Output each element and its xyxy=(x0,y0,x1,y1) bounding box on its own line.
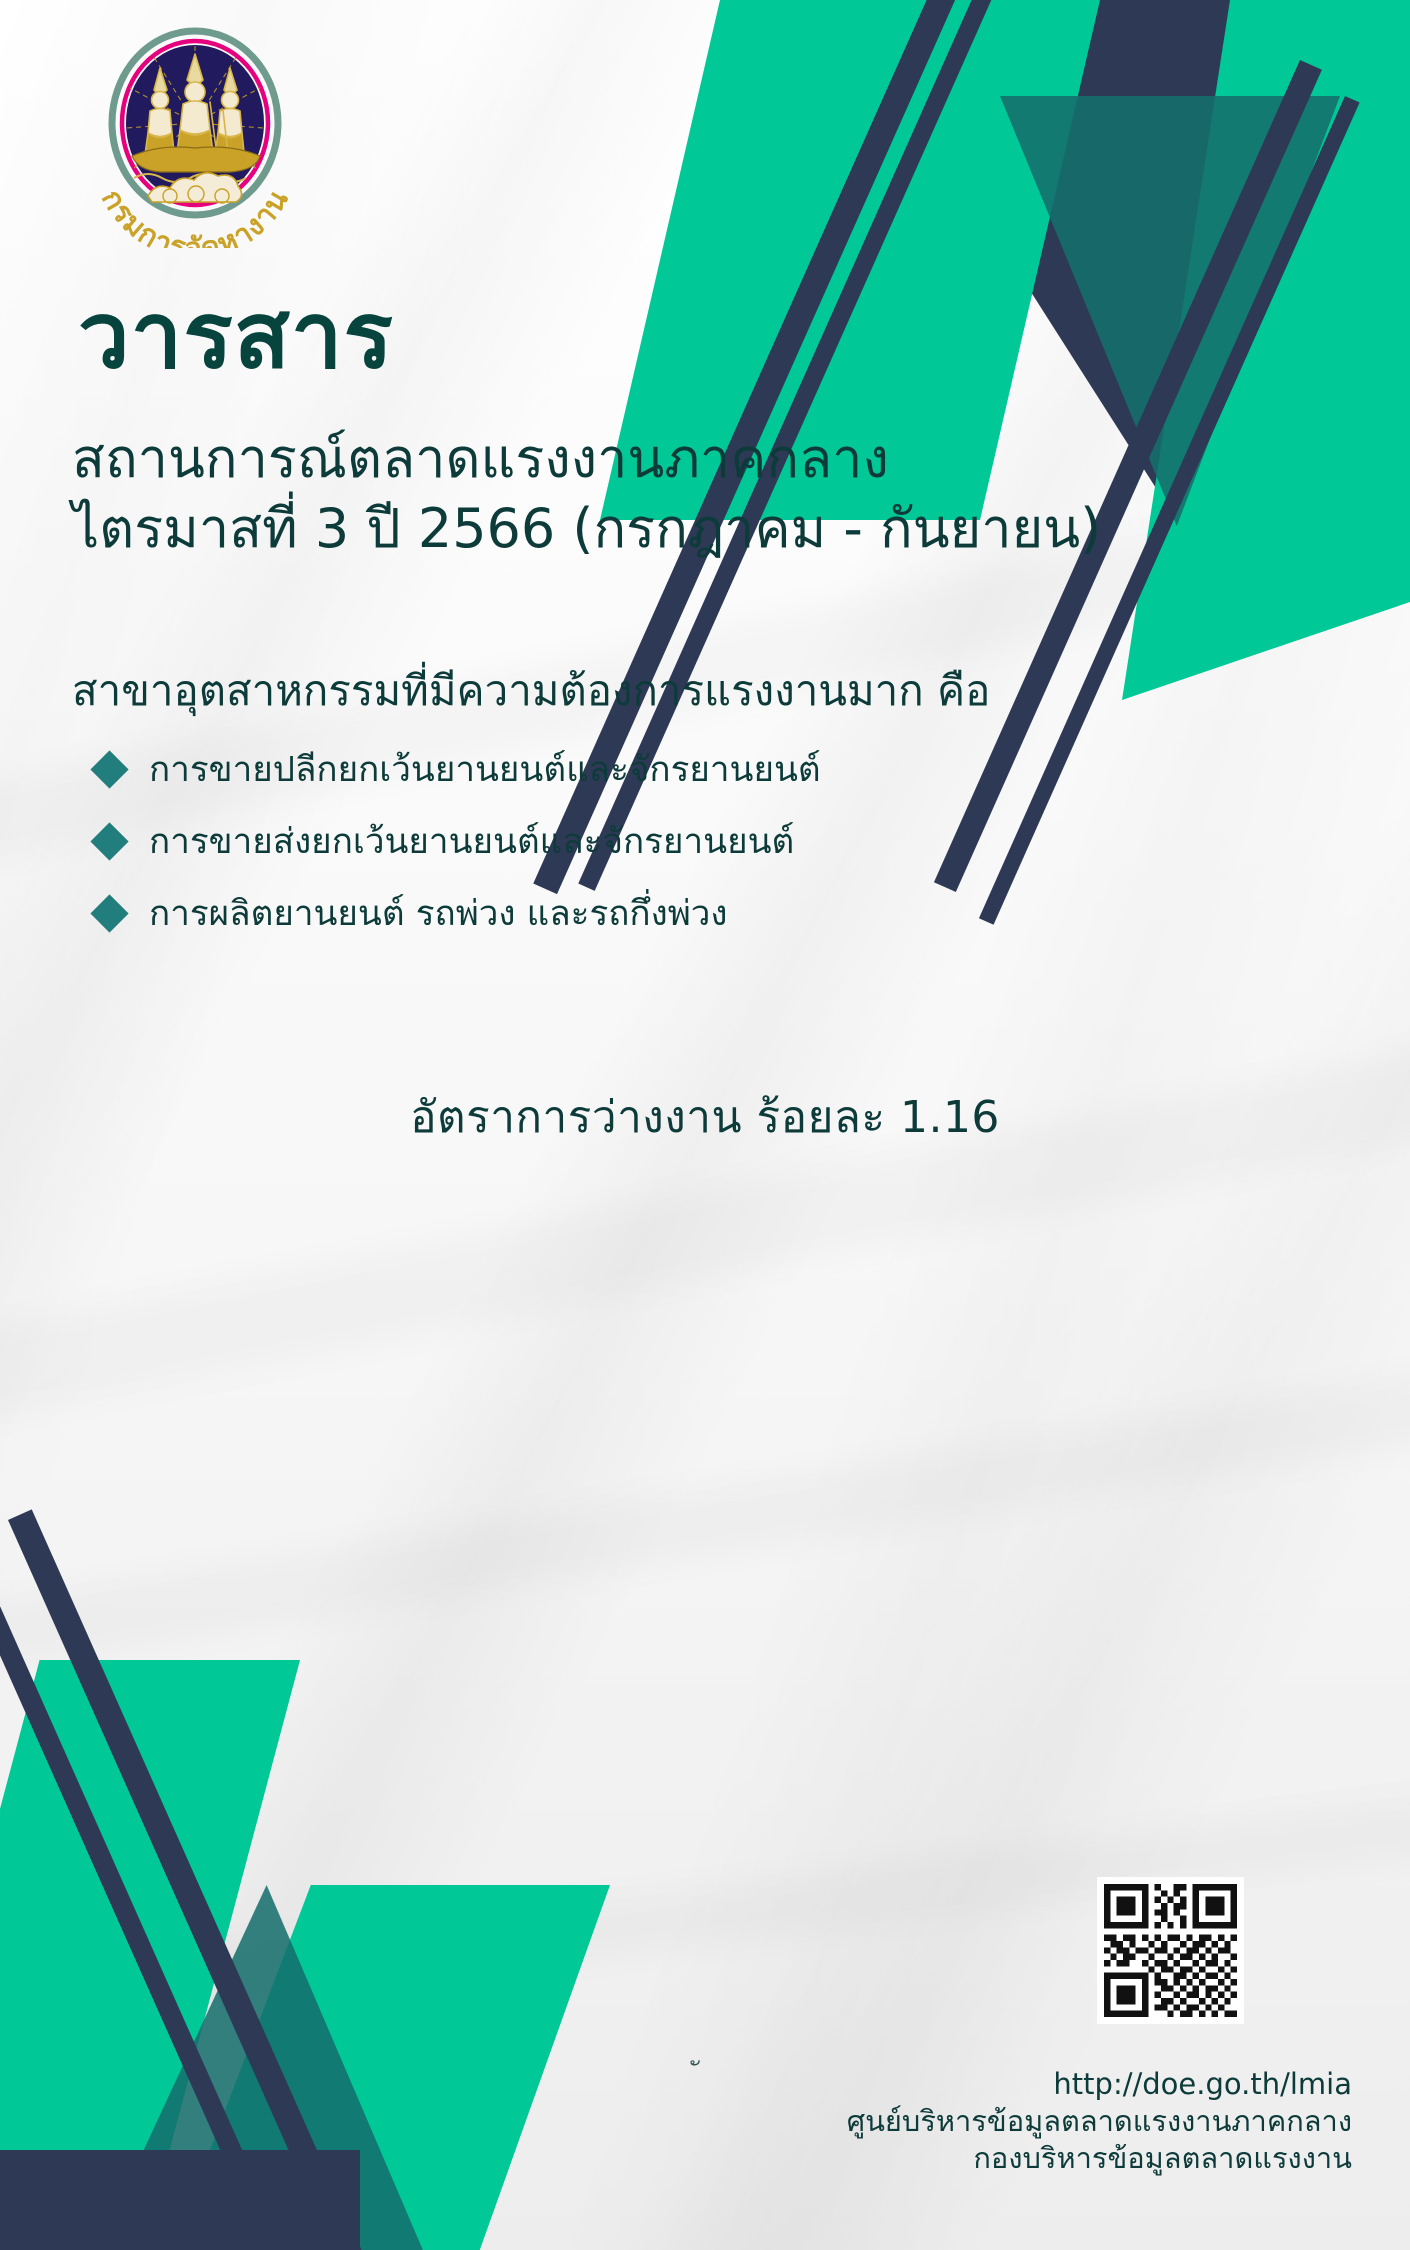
organisation-line-1: ศูนย์บริหารข้อมูลตลาดแรงงานภาคกลาง xyxy=(847,2103,1352,2140)
organisation-line-2: กองบริหารข้อมูลตลาดแรงงาน xyxy=(847,2140,1352,2177)
subtitle-line-1: สถานการณ์ตลาดแรงงานภาคกลาง xyxy=(72,427,889,491)
list-item: การขายส่งยกเว้นยานยนต์และจักรยานยนต์ xyxy=(96,810,996,872)
page-title: วารสาร xyxy=(78,288,394,385)
footer: http://doe.go.th/lmia ศูนย์บริหารข้อมูลต… xyxy=(847,2066,1352,2177)
qr-code[interactable] xyxy=(1097,1877,1244,2024)
website-url[interactable]: http://doe.go.th/lmia xyxy=(847,2066,1352,2103)
list-item: การขายปลีกยกเว้นยานยนต์และจักรยานยนต์ xyxy=(96,738,996,800)
list-item-label: การผลิตยานยนต์ รถพ่วง และรถกึ่งพ่วง xyxy=(149,886,728,941)
diamond-bullet-icon xyxy=(90,750,128,788)
industry-list: การขายปลีกยกเว้นยานยนต์และจักรยานยนต์ กา… xyxy=(96,738,996,954)
unemployment-rate-statistic: อัตราการว่างงาน ร้อยละ 1.16 xyxy=(0,1082,1410,1152)
poster-canvas: กรมการจัดหางาน วารสาร สถานการณ์ตลาดแรงงา… xyxy=(0,0,1410,2250)
list-item-label: การขายส่งยกเว้นยานยนต์และจักรยานยนต์ xyxy=(149,814,794,869)
lead-statement: สาขาอุตสาหกรรมที่มีความต้องการแรงงานมาก … xyxy=(72,658,990,724)
list-item: การผลิตยานยนต์ รถพ่วง และรถกึ่งพ่วง xyxy=(96,882,996,944)
subtitle-line-2: ไตรมาสที่ 3 ปี 2566 (กรกฎาคม - กันยายน) xyxy=(72,497,1101,561)
list-item-label: การขายปลีกยกเว้นยานยนต์และจักรยานยนต์ xyxy=(149,742,821,797)
diamond-bullet-icon xyxy=(90,822,128,860)
diamond-bullet-icon xyxy=(90,894,128,932)
